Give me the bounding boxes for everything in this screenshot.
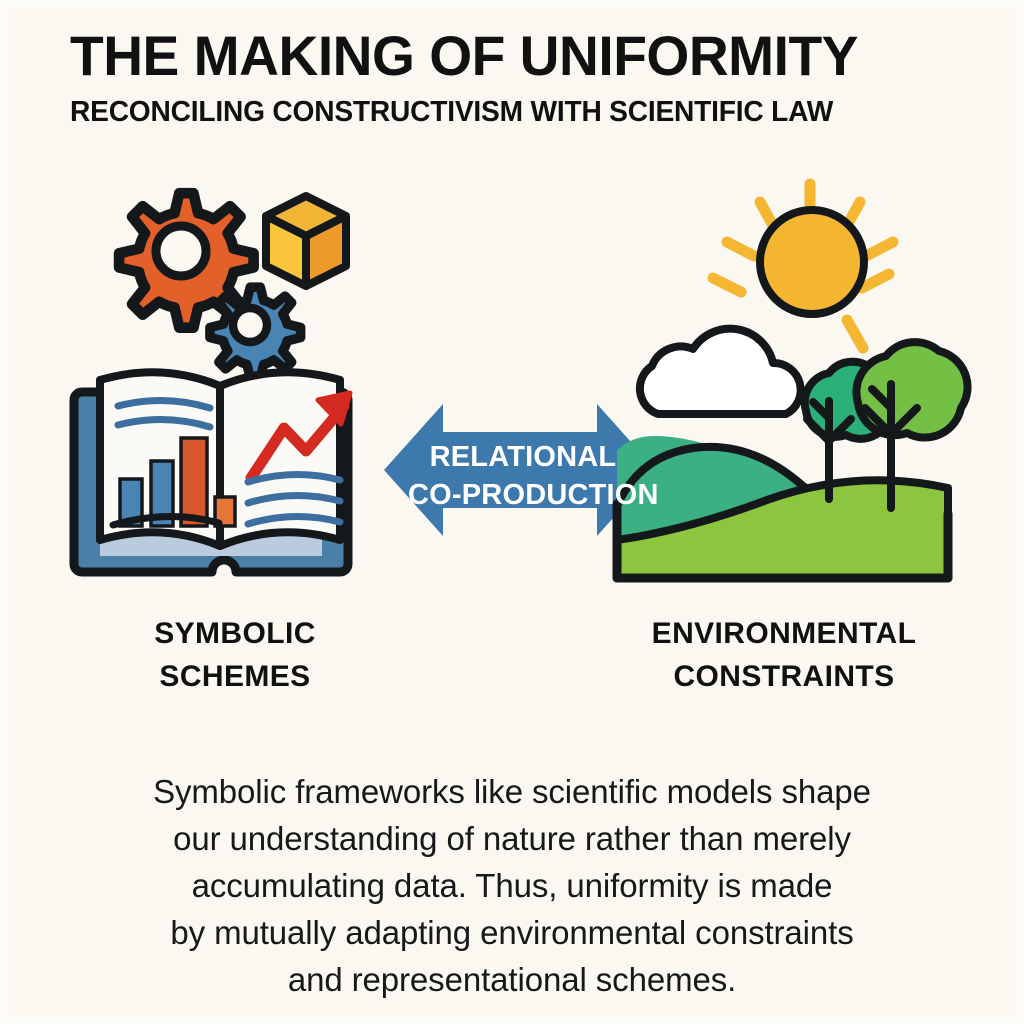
- body-line-2: our understanding of nature rather than …: [62, 815, 962, 862]
- infographic-canvas: THE MAKING OF UNIFORMITY RECONCILING CON…: [0, 0, 1024, 1024]
- body-line-3: accumulating data. Thus, uniformity is m…: [62, 862, 962, 909]
- caption-symbolic-schemes: SYMBOLIC SCHEMES: [60, 612, 410, 698]
- caption-right-line-1: ENVIRONMENTAL: [600, 612, 968, 655]
- caption-left-line-2: SCHEMES: [60, 655, 410, 698]
- body-line-1: Symbolic frameworks like scientific mode…: [62, 768, 962, 815]
- caption-environmental-constraints: ENVIRONMENTAL CONSTRAINTS: [600, 612, 968, 698]
- body-paragraph: Symbolic frameworks like scientific mode…: [62, 768, 962, 1003]
- connector-label[interactable]: RELATIONAL CO-PRODUCTION: [408, 438, 638, 514]
- caption-left-line-1: SYMBOLIC: [60, 612, 410, 655]
- header-block: THE MAKING OF UNIFORMITY RECONCILING CON…: [70, 26, 960, 128]
- caption-right-line-2: CONSTRAINTS: [600, 655, 968, 698]
- page-title: THE MAKING OF UNIFORMITY: [70, 26, 947, 86]
- page-subtitle: RECONCILING CONSTRUCTIVISM WITH SCIENTIF…: [70, 96, 933, 128]
- connector-label-line-2: CO-PRODUCTION: [408, 476, 638, 514]
- connector-label-line-1: RELATIONAL: [408, 438, 638, 476]
- body-line-5: and representational schemes.: [62, 956, 962, 1003]
- body-line-4: by mutually adapting environmental const…: [62, 909, 962, 956]
